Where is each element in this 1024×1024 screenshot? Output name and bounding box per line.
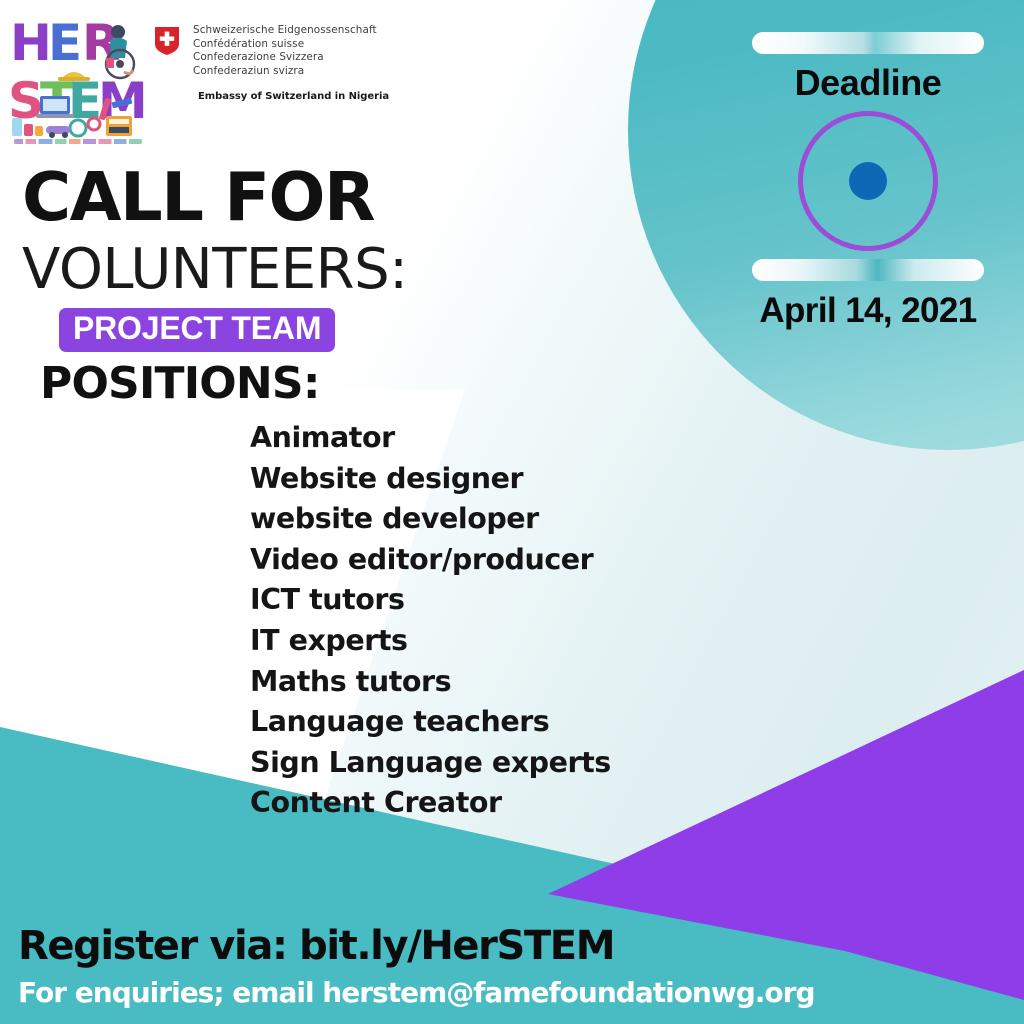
list-item: ICT tutors — [250, 580, 611, 621]
swiss-language-lines: Schweizerische Eidgenossenschaft Confédé… — [193, 24, 377, 78]
deadline-date: April 14, 2021 — [742, 293, 994, 328]
list-item: Animator — [250, 418, 611, 459]
poster-canvas: H E R S T E M — [0, 0, 1024, 1024]
footer-block: Register via: bit.ly/HerSTEM For enquiri… — [18, 923, 815, 1012]
list-item: Language teachers — [250, 702, 611, 743]
calculator-illustration — [106, 116, 132, 136]
list-item: website developer — [250, 499, 611, 540]
swiss-lang-fr: Confédération suisse — [193, 38, 377, 52]
herstem-logo: H E R S T E M — [6, 4, 146, 146]
positions-list: Animator Website designer website develo… — [250, 418, 611, 824]
list-item: IT experts — [250, 621, 611, 662]
svg-text:H: H — [10, 14, 52, 72]
swiss-lang-de: Schweizerische Eidgenossenschaft — [193, 24, 377, 38]
svg-text:E: E — [48, 14, 82, 72]
swiss-embassy-line: Embassy of Switzerland in Nigeria — [198, 91, 392, 102]
deadline-top-bar — [752, 32, 984, 54]
enquiries-email-text[interactable]: For enquiries; email herstem@famefoundat… — [18, 974, 815, 1012]
logo-tagline-bar — [14, 139, 142, 144]
list-item: Sign Language experts — [250, 743, 611, 784]
list-item: Content Creator — [250, 783, 611, 824]
headline-volunteers: VOLUNTEERS: — [22, 238, 408, 302]
headline-call-for: CALL FOR — [22, 160, 408, 234]
list-item: Website designer — [250, 459, 611, 500]
deadline-ring-graphic — [798, 111, 938, 251]
headline-badge-row: PROJECT TEAM — [22, 308, 408, 352]
swiss-lang-rm: Confederaziun svizra — [193, 65, 377, 79]
swiss-lang-it: Confederazione Svizzera — [193, 51, 377, 65]
project-team-badge: PROJECT TEAM — [59, 308, 335, 352]
deadline-block: Deadline April 14, 2021 — [742, 32, 994, 328]
deadline-label: Deadline — [742, 65, 994, 101]
swiss-cross-shield-icon — [152, 25, 182, 61]
laptop-illustration — [36, 96, 74, 118]
swiss-embassy-logo: Schweizerische Eidgenossenschaft Confédé… — [152, 24, 392, 102]
deadline-bottom-bar — [752, 259, 984, 281]
herstem-logo-art: H E R S T E M — [6, 4, 146, 146]
list-item: Maths tutors — [250, 662, 611, 703]
car-illustration — [46, 126, 70, 138]
headline-block: CALL FOR VOLUNTEERS: PROJECT TEAM POSITI… — [22, 160, 408, 410]
deadline-center-dot-icon — [849, 162, 887, 200]
register-link-text[interactable]: Register via: bit.ly/HerSTEM — [18, 923, 815, 970]
headline-positions-label: POSITIONS: — [22, 358, 408, 410]
list-item: Video editor/producer — [250, 540, 611, 581]
